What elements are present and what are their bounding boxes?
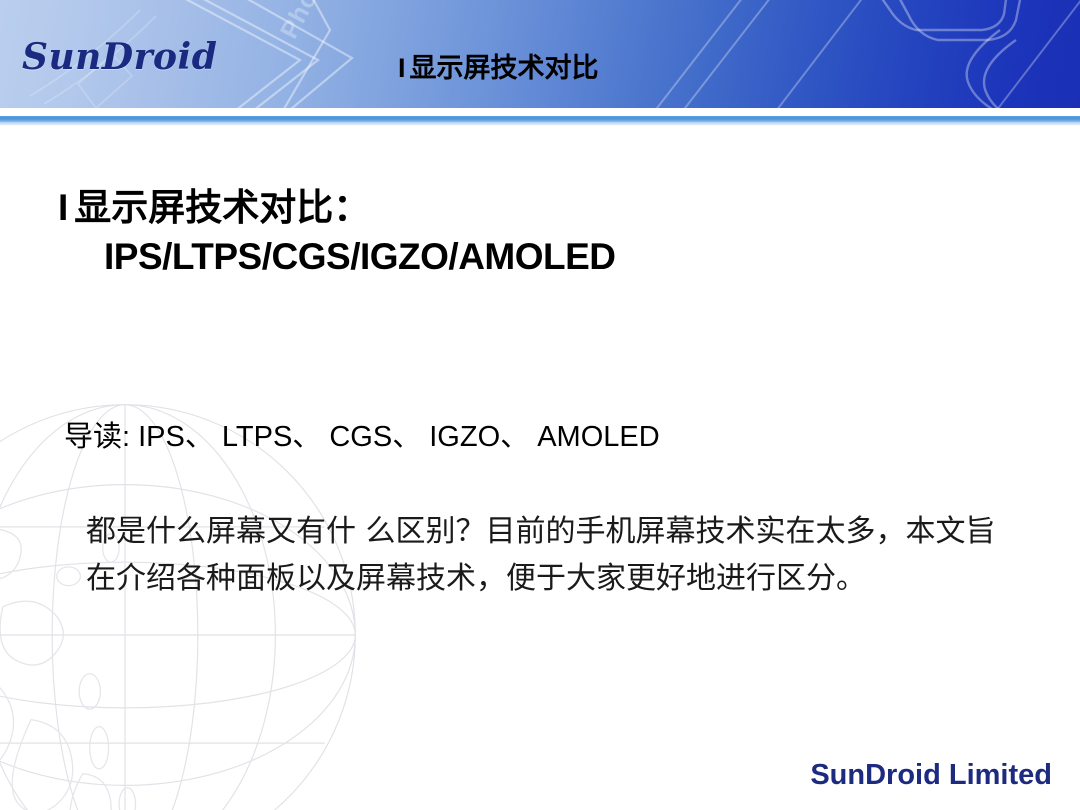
header-gap	[0, 108, 1080, 116]
header-divider-rule	[0, 116, 1080, 123]
globe-watermark-icon	[0, 400, 360, 810]
header-title-text: 显示屏技术对比	[410, 53, 599, 83]
page-title-text: 显示屏技术对比：	[74, 187, 370, 228]
lead-in-line: 导读: IPS、 LTPS、 CGS、 IGZO、 AMOLED	[64, 413, 660, 455]
header-band: Phone SunDroid I显示屏技术对比	[0, 0, 1080, 108]
sundroid-logo: SunDroid	[22, 36, 217, 78]
page-title: I显示屏技术对比： IPS/LTPS/CGS/IGZO/AMOLED	[58, 185, 616, 283]
header-divider-shadow	[0, 123, 1080, 126]
body-paragraph: 都是什么屏幕又有什 么区别？目前的手机屏幕技术实在太多，本文旨在介绍各种面板以及…	[86, 508, 1016, 602]
page-title-line-1: I显示屏技术对比：	[58, 185, 616, 231]
page-title-line-2: IPS/LTPS/CGS/IGZO/AMOLED	[104, 231, 616, 283]
header-title: I显示屏技术对比	[398, 46, 599, 85]
page-title-marker: I	[58, 187, 68, 228]
slide-canvas: Phone SunDroid I显示屏技术对比	[0, 0, 1080, 810]
header-title-marker: I	[398, 53, 406, 83]
footer-company-name: SunDroid Limited	[810, 759, 1052, 792]
phone-watermark-text: Phone	[275, 0, 339, 44]
